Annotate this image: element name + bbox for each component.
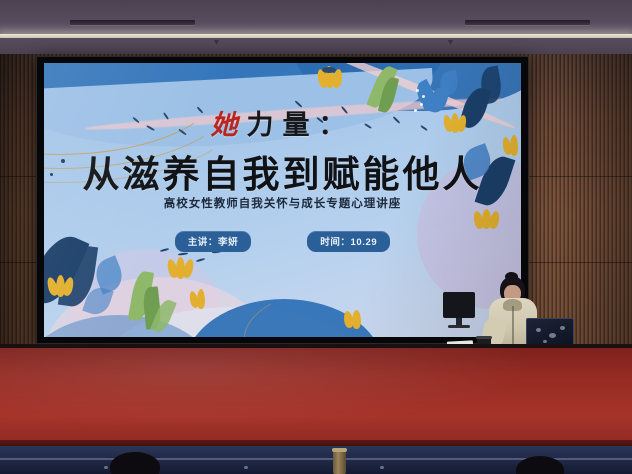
time-badge: 时间：10.29	[307, 231, 390, 252]
ceiling	[0, 0, 632, 34]
laptop-wallpaper-dot-d	[543, 340, 547, 343]
slide-title-line-1: 她力量：	[44, 103, 521, 142]
laptop-wallpaper-dot-b	[549, 333, 556, 338]
presenter-jacket-zipper	[512, 306, 514, 346]
laptop-wallpaper-dot-a	[536, 328, 541, 332]
slide-title-rest: 力量：	[247, 110, 355, 141]
audience-thermos	[333, 450, 346, 474]
wall-shadow-right	[562, 54, 632, 344]
speaker-badge: 主讲：李妍	[175, 231, 252, 252]
ceiling-vent-left	[70, 20, 195, 25]
confidence-monitor	[443, 292, 475, 318]
desk-cup-rim	[476, 336, 492, 339]
lecture-hall-screenshot: 她力量： 从滋养自我到赋能他人 高校女性教师自我关怀与成长专题心理讲座 主讲：李…	[0, 0, 632, 474]
slide-title-line-2: 从滋养自我到赋能他人	[44, 144, 521, 198]
monitor-base	[448, 325, 470, 328]
laptop-wallpaper-dot-c	[560, 326, 565, 330]
audience-dot-a	[104, 466, 108, 469]
slide-badge-row: 主讲：李妍 时间：10.29	[44, 231, 521, 252]
slide-subtitle: 高校女性教师自我关怀与成长专题心理讲座	[44, 195, 521, 211]
slide-title-highlight: 她	[211, 110, 247, 141]
audience-thermos-lid	[332, 448, 347, 452]
stage-floor-sheen	[0, 348, 632, 446]
audience-head-left	[110, 452, 160, 474]
ceiling-vent-right	[465, 20, 590, 25]
audience-dot-b	[244, 466, 248, 469]
audience-dot-c	[380, 466, 384, 469]
